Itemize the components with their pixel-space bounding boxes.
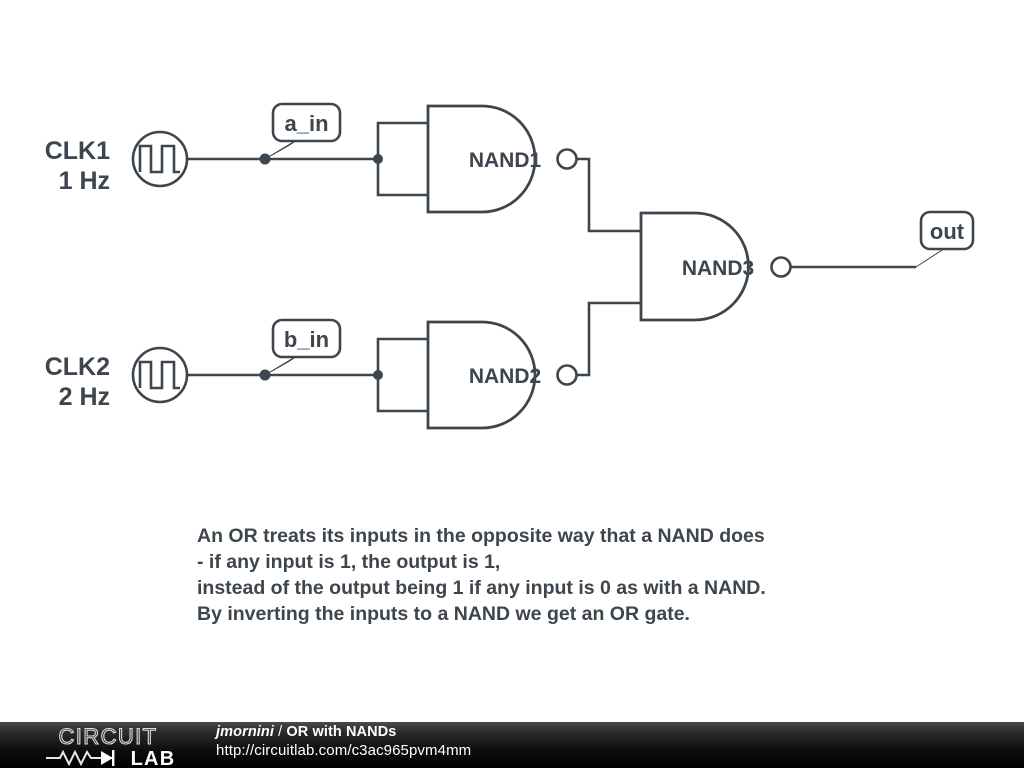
nand1-label: NAND1 [469, 149, 542, 172]
nand1-output-bubble [558, 150, 577, 169]
notes-line-1: An OR treats its inputs in the opposite … [197, 525, 765, 547]
diode-icon [101, 751, 113, 765]
out-label: out [930, 219, 965, 244]
gate-nand1[interactable]: NAND1 [428, 106, 577, 212]
nand3-output-bubble [772, 258, 791, 277]
wire-segment [378, 123, 428, 159]
notes-line-2: - if any input is 1, the output is 1, [197, 551, 500, 573]
circuitlab-logo[interactable]: CIRCUIT LAB [22, 724, 192, 766]
footer-title-line: jmornini / OR with NANDs [216, 725, 471, 741]
wire-segment [378, 339, 428, 375]
clk1-name-label: CLK1 [45, 137, 110, 165]
logo-circuit-text: CIRCUIT [58, 724, 157, 749]
footer-url[interactable]: http://circuitlab.com/c3ac965pvm4mm [216, 743, 471, 759]
net-label-b_in[interactable]: b_in [265, 320, 340, 375]
footer-author: jmornini [216, 724, 274, 740]
logo-lab-text: LAB [131, 748, 176, 766]
wire-segment [576, 303, 641, 375]
source-clk1[interactable]: CLK1 1 Hz [45, 132, 187, 195]
footer-separator: / [274, 724, 286, 740]
footer-text-block: jmornini / OR with NANDs http://circuitl… [216, 725, 471, 759]
notes-line-3: instead of the output being 1 if any inp… [197, 577, 766, 599]
clk2-value-label: 2 Hz [59, 383, 110, 411]
notes-block: An OR treats its inputs in the opposite … [197, 525, 766, 625]
wire-segment [378, 159, 428, 195]
wire-segment [378, 375, 428, 411]
a-in-label: a_in [284, 111, 328, 136]
wire-nand1-to-nand3[interactable] [576, 159, 641, 231]
footer-bar: CIRCUIT LAB jmornini / OR with NANDs htt… [0, 722, 1024, 768]
nand2-label: NAND2 [469, 365, 541, 388]
footer-title: OR with NANDs [286, 724, 396, 740]
schematic-canvas[interactable]: CLK1 1 Hz CLK2 2 Hz [0, 0, 1024, 722]
circuit-schematic[interactable]: CLK1 1 Hz CLK2 2 Hz [0, 0, 1024, 722]
gate-nand2[interactable]: NAND2 [428, 322, 577, 428]
clk2-name-label: CLK2 [45, 353, 110, 381]
clk1-value-label: 1 Hz [59, 167, 110, 195]
wire-nand2-to-nand3[interactable] [576, 303, 641, 375]
source-clk2[interactable]: CLK2 2 Hz [45, 348, 187, 411]
nand3-label: NAND3 [682, 257, 754, 280]
notes-line-4: By inverting the inputs to a NAND we get… [197, 603, 690, 625]
junction-dot [373, 370, 383, 380]
net-label-out[interactable]: out [916, 212, 973, 267]
wire-segment [576, 159, 641, 231]
junction-dot [373, 154, 383, 164]
b-in-label: b_in [284, 327, 329, 352]
diode-bar-icon [112, 750, 114, 766]
net-label-a_in[interactable]: a_in [265, 104, 340, 159]
gate-nand3[interactable]: NAND3 [641, 213, 791, 320]
nand2-output-bubble [558, 366, 577, 385]
